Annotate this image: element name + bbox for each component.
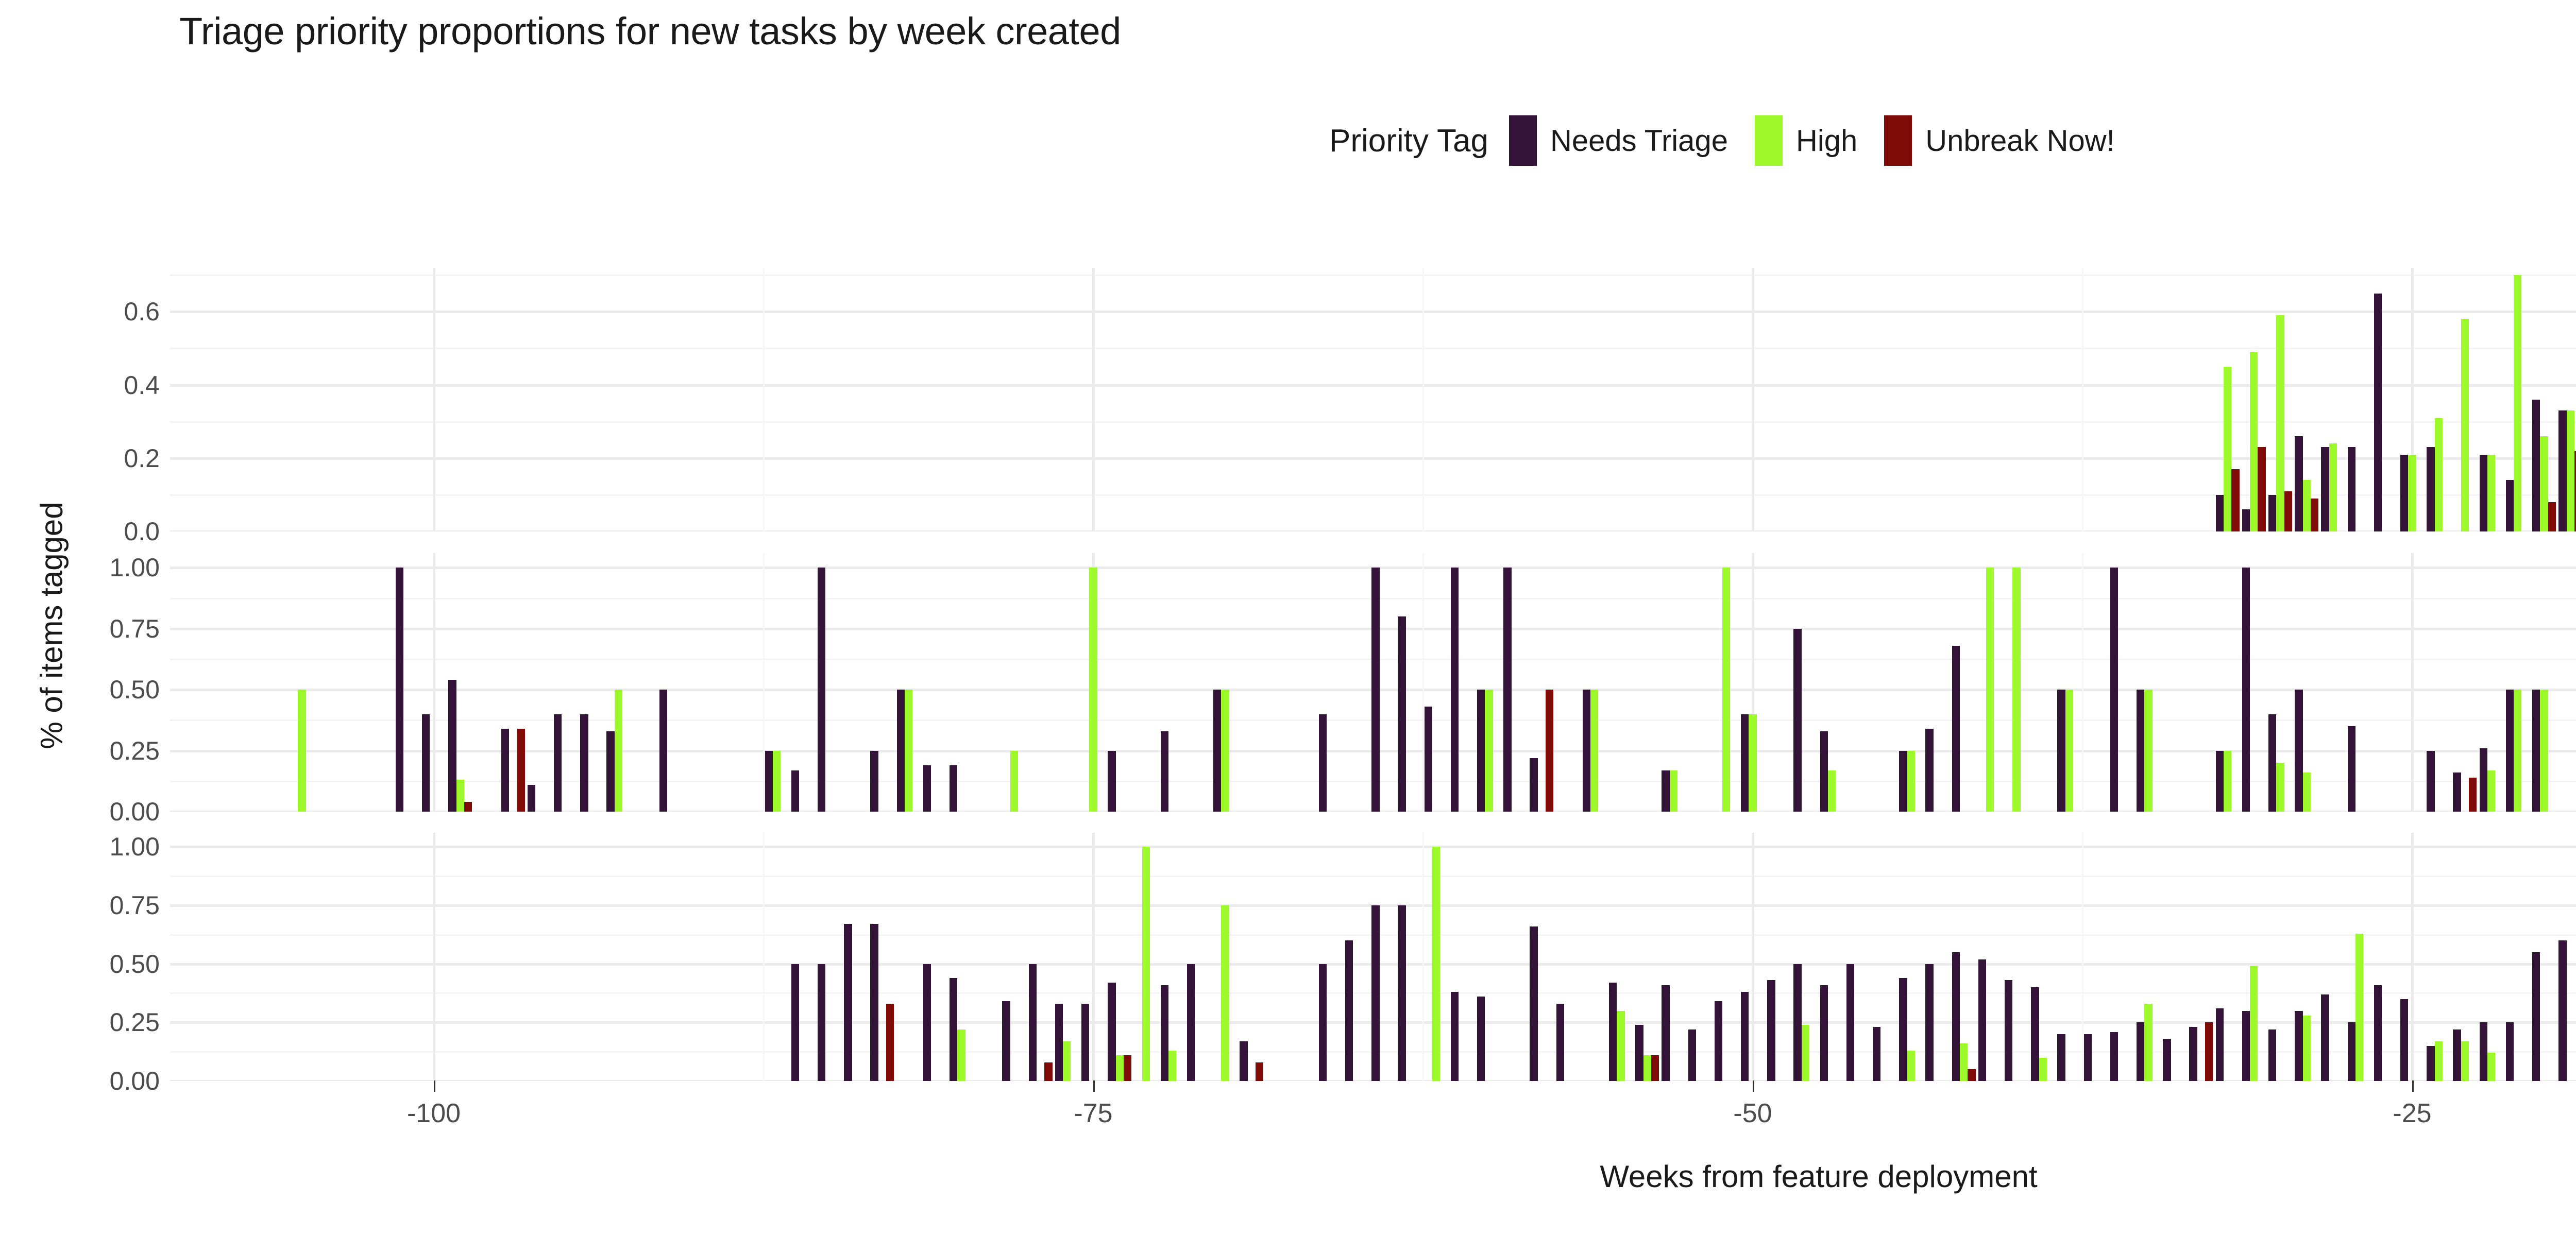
bar[interactable]: [1319, 964, 1327, 1081]
bar[interactable]: [2311, 499, 2318, 531]
bar[interactable]: [1662, 770, 1669, 812]
bar[interactable]: [1670, 770, 1677, 812]
bar[interactable]: [2144, 1004, 2152, 1081]
bar[interactable]: [1583, 690, 1590, 812]
bar[interactable]: [2506, 1022, 2514, 1081]
x-tick-label: -100: [407, 1098, 461, 1129]
bar[interactable]: [1767, 980, 1775, 1081]
bar[interactable]: [2548, 502, 2556, 531]
x-axis-title: Weeks from feature deployment: [170, 1159, 2576, 1194]
facet-panel-https-login: 0.000.250.500.751.00: [170, 553, 2576, 812]
y-tick-label: 0.2: [5, 443, 160, 473]
bar[interactable]: [1063, 1041, 1071, 1081]
legend-swatch-high: [1755, 115, 1783, 166]
bar[interactable]: [2480, 1022, 2487, 1081]
bar[interactable]: [1503, 568, 1511, 812]
bar[interactable]: [1432, 847, 1440, 1081]
bar[interactable]: [528, 785, 535, 812]
bar[interactable]: [2295, 436, 2302, 531]
bar[interactable]: [957, 1029, 965, 1081]
bar[interactable]: [2295, 1011, 2302, 1081]
bar[interactable]: [1968, 1069, 1975, 1081]
bar[interactable]: [2400, 999, 2408, 1081]
bar[interactable]: [517, 729, 524, 812]
bar[interactable]: [2057, 690, 2065, 812]
x-tick-mark: [2412, 1080, 2414, 1092]
legend-item-high[interactable]: High: [1755, 115, 1857, 166]
bar[interactable]: [1741, 992, 1749, 1081]
y-tick-label: 0.00: [5, 797, 160, 827]
bar[interactable]: [870, 924, 878, 1081]
y-tick-label: 0.50: [5, 949, 160, 979]
bar[interactable]: [1722, 568, 1730, 812]
bar[interactable]: [1793, 629, 1801, 812]
bar[interactable]: [2427, 751, 2434, 812]
bar[interactable]: [1688, 1029, 1696, 1081]
bar[interactable]: [1044, 1062, 1052, 1081]
bar[interactable]: [2427, 1046, 2434, 1081]
bar[interactable]: [2189, 1027, 2197, 1081]
facet-panel-ittp-deprecation: 0.000.250.500.751.00: [170, 833, 2576, 1081]
bar[interactable]: [1899, 751, 1907, 812]
bar[interactable]: [765, 751, 773, 812]
bar[interactable]: [2461, 1041, 2469, 1081]
bar[interactable]: [2321, 994, 2329, 1081]
bar[interactable]: [2137, 690, 2144, 812]
y-tick-label: 1.00: [5, 832, 160, 862]
y-tick-label: 0.50: [5, 675, 160, 705]
bar[interactable]: [606, 731, 614, 812]
bar[interactable]: [1477, 690, 1485, 812]
bar[interactable]: [2242, 1011, 2250, 1081]
bar[interactable]: [818, 568, 825, 812]
bar[interactable]: [2348, 447, 2355, 531]
bar[interactable]: [2276, 315, 2284, 531]
bar[interactable]: [1345, 940, 1353, 1081]
legend-item-needs-triage[interactable]: Needs Triage: [1509, 115, 1728, 166]
bar[interactable]: [2480, 748, 2487, 812]
bar[interactable]: [2567, 410, 2574, 531]
bar[interactable]: [1820, 985, 1828, 1081]
bar[interactable]: [2487, 770, 2495, 812]
bar[interactable]: [1907, 751, 1915, 812]
bar[interactable]: [554, 714, 562, 812]
bar[interactable]: [1925, 729, 1933, 812]
bar[interactable]: [1952, 646, 1960, 812]
bar[interactable]: [1055, 1004, 1063, 1081]
legend-label-unbreak-now: Unbreak Now!: [1925, 124, 2114, 158]
legend-swatch-unbreak-now: [1884, 115, 1912, 166]
bar[interactable]: [1213, 690, 1221, 812]
bar[interactable]: [1010, 751, 1018, 812]
bar[interactable]: [2374, 294, 2382, 531]
plot-area: [170, 268, 2576, 531]
bar[interactable]: [1873, 1027, 1880, 1081]
x-tick-label: -75: [1074, 1098, 1112, 1129]
bar[interactable]: [1477, 997, 1485, 1081]
bar[interactable]: [1820, 731, 1828, 812]
bar[interactable]: [2110, 568, 2118, 812]
bar[interactable]: [1556, 1004, 1564, 1081]
bar[interactable]: [1371, 905, 1379, 1081]
bar[interactable]: [1256, 1062, 1263, 1081]
bar[interactable]: [1221, 905, 1229, 1081]
bar[interactable]: [870, 751, 878, 812]
legend-title: Priority Tag: [1329, 123, 1488, 159]
bar[interactable]: [2163, 1039, 2171, 1081]
bar[interactable]: [2276, 763, 2284, 812]
y-tick-label: 0.6: [5, 297, 160, 327]
bar[interactable]: [2400, 455, 2408, 531]
bar[interactable]: [2348, 726, 2355, 812]
bar[interactable]: [2268, 495, 2276, 531]
bar[interactable]: [2532, 400, 2540, 531]
bar[interactable]: [1960, 1043, 1968, 1081]
bar[interactable]: [2216, 1008, 2224, 1081]
bar[interactable]: [580, 714, 588, 812]
bar[interactable]: [1240, 1041, 1247, 1081]
bar[interactable]: [1715, 1001, 1722, 1081]
bar[interactable]: [2453, 772, 2461, 812]
bar[interactable]: [2427, 447, 2434, 531]
bar[interactable]: [791, 964, 799, 1081]
y-tick-label: 0.0: [5, 517, 160, 546]
bar[interactable]: [2514, 275, 2521, 531]
bar[interactable]: [1907, 1051, 1915, 1081]
bar[interactable]: [2532, 952, 2540, 1081]
bar[interactable]: [2250, 966, 2258, 1081]
bar[interactable]: [844, 924, 852, 1081]
bar[interactable]: [1451, 568, 1459, 812]
bar[interactable]: [2540, 436, 2548, 531]
bar[interactable]: [886, 1004, 894, 1081]
bar[interactable]: [1530, 758, 1537, 812]
bar[interactable]: [2506, 690, 2514, 812]
bar[interactable]: [2137, 1022, 2144, 1081]
bar[interactable]: [2480, 455, 2487, 531]
bar[interactable]: [897, 690, 905, 812]
bar[interactable]: [1643, 1055, 1651, 1081]
bar[interactable]: [2242, 509, 2250, 531]
bar[interactable]: [1371, 568, 1379, 812]
bar[interactable]: [2295, 690, 2302, 812]
bar[interactable]: [923, 765, 931, 812]
bar[interactable]: [2374, 985, 2382, 1081]
bar[interactable]: [2205, 1022, 2213, 1081]
x-tick-label: -50: [1733, 1098, 1772, 1129]
bar[interactable]: [1142, 847, 1150, 1081]
bar[interactable]: [1749, 714, 1756, 812]
bar[interactable]: [1590, 690, 1598, 812]
bar[interactable]: [950, 765, 957, 812]
bar[interactable]: [501, 729, 509, 812]
bar[interactable]: [1161, 985, 1168, 1081]
bar[interactable]: [2348, 1022, 2355, 1081]
y-tick-label: 0.25: [5, 736, 160, 766]
bar[interactable]: [2303, 1016, 2311, 1081]
bar[interactable]: [2532, 690, 2540, 812]
y-tick-label: 0.00: [5, 1066, 160, 1096]
x-tick-mark: [1093, 1080, 1095, 1092]
bar[interactable]: [448, 680, 456, 812]
bar[interactable]: [1319, 714, 1327, 812]
legend: Priority Tag Needs Triage High Unbreak N…: [1329, 123, 2142, 159]
bar[interactable]: [2435, 1041, 2443, 1081]
bar[interactable]: [2242, 568, 2250, 812]
y-tick-label: 0.25: [5, 1007, 160, 1037]
bar[interactable]: [2355, 934, 2363, 1081]
legend-swatch-needs-triage: [1509, 115, 1537, 166]
bar[interactable]: [1029, 964, 1037, 1081]
bar[interactable]: [1899, 978, 1907, 1081]
bar[interactable]: [2031, 987, 2039, 1081]
legend-label-high: High: [1796, 124, 1857, 158]
facet-panel-visualeditor: 0.00.20.40.6: [170, 268, 2576, 531]
bar-series-group: [170, 268, 2576, 531]
bar[interactable]: [1546, 690, 1553, 812]
bar[interactable]: [1635, 1025, 1643, 1081]
page-title: Triage priority proportions for new task…: [179, 9, 2240, 53]
bar[interactable]: [905, 690, 912, 812]
bar[interactable]: [1108, 983, 1115, 1081]
bar[interactable]: [2435, 418, 2443, 531]
bar[interactable]: [2231, 469, 2239, 531]
bar[interactable]: [2258, 447, 2265, 531]
x-tick-label: -25: [2393, 1098, 2431, 1129]
bar[interactable]: [2216, 495, 2224, 531]
bar[interactable]: [2506, 480, 2514, 531]
bar[interactable]: [2268, 714, 2276, 812]
bar[interactable]: [2469, 778, 2477, 812]
bar[interactable]: [1741, 714, 1749, 812]
bar[interactable]: [2487, 1053, 2495, 1081]
bar[interactable]: [1168, 1051, 1176, 1081]
bar[interactable]: [2144, 690, 2152, 812]
bar[interactable]: [950, 978, 957, 1081]
bar[interactable]: [298, 690, 306, 812]
bar[interactable]: [2329, 443, 2337, 531]
bar[interactable]: [2110, 1032, 2118, 1081]
bar[interactable]: [1617, 1011, 1624, 1081]
bar[interactable]: [464, 802, 472, 812]
bar[interactable]: [615, 690, 622, 812]
bar[interactable]: [396, 568, 403, 812]
bar[interactable]: [2453, 1029, 2461, 1081]
bar[interactable]: [1451, 992, 1459, 1081]
chart-root: Triage priority proportions for new task…: [0, 0, 2576, 1236]
bar[interactable]: [2487, 455, 2495, 531]
bar[interactable]: [1116, 1055, 1124, 1081]
y-tick-label: 0.75: [5, 890, 160, 920]
bar[interactable]: [1662, 985, 1669, 1081]
bar[interactable]: [1187, 964, 1195, 1081]
bar[interactable]: [1161, 731, 1168, 812]
bar[interactable]: [1081, 1004, 1089, 1081]
bar-series-group: [170, 553, 2576, 812]
bar[interactable]: [2461, 319, 2469, 531]
bar[interactable]: [2303, 480, 2311, 531]
bar[interactable]: [1221, 690, 1229, 812]
plot-area: [170, 553, 2576, 812]
bar[interactable]: [1485, 690, 1493, 812]
legend-label-needs-triage: Needs Triage: [1550, 124, 1728, 158]
bar[interactable]: [2558, 940, 2566, 1081]
bar[interactable]: [2039, 1058, 2047, 1081]
bar[interactable]: [1002, 1001, 1010, 1081]
x-tick-mark: [1753, 1080, 1754, 1092]
y-tick-label: 1.00: [5, 553, 160, 582]
bar[interactable]: [2303, 772, 2311, 812]
bar[interactable]: [1089, 568, 1097, 812]
bar[interactable]: [1425, 707, 1432, 812]
bar[interactable]: [422, 714, 430, 812]
bar[interactable]: [1530, 926, 1537, 1081]
bar[interactable]: [1398, 616, 1405, 812]
bar[interactable]: [2268, 1029, 2276, 1081]
bar[interactable]: [1828, 770, 1836, 812]
bar[interactable]: [1124, 1055, 1131, 1081]
bar[interactable]: [2216, 751, 2224, 812]
bar[interactable]: [773, 751, 781, 812]
bar[interactable]: [2321, 447, 2329, 531]
plot-area: [170, 833, 2576, 1081]
bar[interactable]: [1925, 964, 1933, 1081]
bar[interactable]: [2065, 690, 2073, 812]
bar[interactable]: [2284, 491, 2292, 531]
bar[interactable]: [1846, 964, 1854, 1081]
bar[interactable]: [1802, 1025, 1809, 1081]
bar[interactable]: [1108, 751, 1115, 812]
bar[interactable]: [1651, 1055, 1659, 1081]
bar[interactable]: [1609, 983, 1617, 1081]
bar[interactable]: [2224, 751, 2231, 812]
bar[interactable]: [1793, 964, 1801, 1081]
bar-series-group: [170, 833, 2576, 1081]
bar[interactable]: [2514, 690, 2521, 812]
x-tick-mark: [434, 1080, 435, 1092]
bar[interactable]: [2558, 410, 2566, 531]
y-tick-label: 0.4: [5, 370, 160, 400]
y-tick-label: 0.75: [5, 614, 160, 644]
bar[interactable]: [2224, 367, 2231, 531]
bar[interactable]: [659, 690, 667, 812]
x-axis: -100-75-50-250: [170, 1080, 2576, 1096]
bar[interactable]: [456, 780, 464, 812]
bar[interactable]: [2540, 690, 2548, 812]
bar[interactable]: [2005, 980, 2012, 1081]
bar[interactable]: [2057, 1034, 2065, 1081]
bar[interactable]: [1986, 568, 1994, 812]
bar[interactable]: [791, 770, 799, 812]
bar[interactable]: [2250, 352, 2258, 531]
bar[interactable]: [923, 964, 931, 1081]
legend-item-unbreak-now[interactable]: Unbreak Now!: [1884, 115, 2114, 166]
bar[interactable]: [1398, 905, 1405, 1081]
bar[interactable]: [2408, 455, 2416, 531]
bar[interactable]: [1952, 952, 1960, 1081]
bar[interactable]: [1978, 959, 1986, 1081]
bar[interactable]: [2084, 1034, 2092, 1081]
bar[interactable]: [2012, 568, 2020, 812]
bar[interactable]: [818, 964, 825, 1081]
